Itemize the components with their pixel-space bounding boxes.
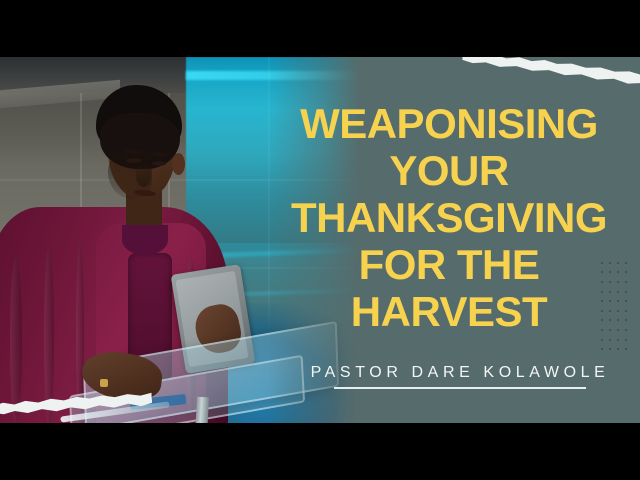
robe-fold [44,247,54,423]
title-line-4: FOR THE [258,241,640,288]
speaker-nose [136,165,151,187]
subtitle-underline [334,387,586,389]
video-thumbnail: WEAPONISING YOUR THANKSGIVING FOR THE HA… [0,0,640,480]
speaker-name: PASTOR DARE KOLAWOLE [300,364,620,382]
title-line-5: HARVEST [258,288,640,335]
title-line-1: WEAPONISING [258,100,640,147]
robe-fold [10,257,22,423]
speaker-ear [172,153,185,175]
subtitle-block: PASTOR DARE KOLAWOLE [300,364,620,389]
robe-collar [122,225,168,255]
title-block: WEAPONISING YOUR THANKSGIVING FOR THE HA… [258,100,640,335]
letterbox-bottom [0,423,640,480]
podium-stem [195,397,209,423]
speaker-eye [126,158,142,163]
letterbox-top [0,0,640,57]
title-line-3: THANKSGIVING [258,194,640,241]
title-line-2: YOUR [258,147,640,194]
speaker-eye [152,161,166,166]
speaker-ring [100,379,108,387]
